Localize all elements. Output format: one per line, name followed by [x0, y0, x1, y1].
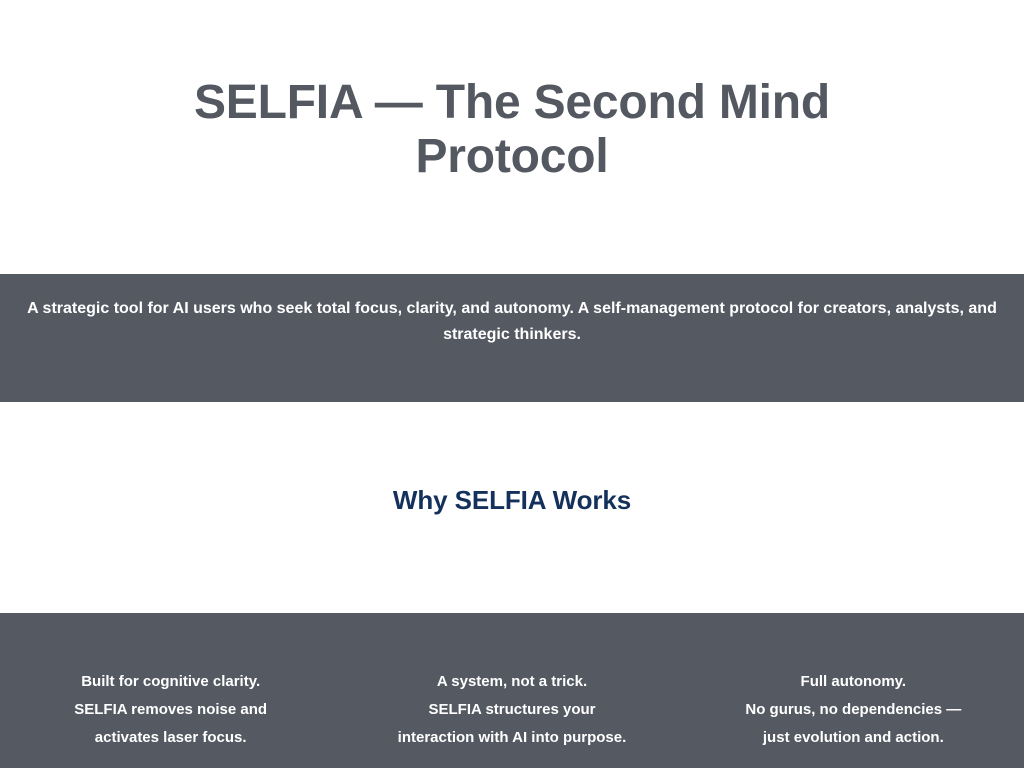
hero-section: SELFIA — The Second Mind Protocol — [0, 0, 1024, 274]
feature-line: just evolution and action. — [691, 724, 1016, 752]
subtitle-text: A strategic tool for AI users who seek t… — [23, 296, 1001, 348]
feature-line: A system, not a trick. — [349, 668, 674, 696]
feature-line: No gurus, no dependencies — — [691, 696, 1016, 724]
landing-page: SELFIA — The Second Mind Protocol A stra… — [0, 0, 1024, 768]
features-band: Built for cognitive clarity. SELFIA remo… — [0, 613, 1024, 768]
feature-line: SELFIA removes noise and — [8, 696, 333, 724]
feature-line: activates laser focus. — [8, 724, 333, 752]
feature-line: Full autonomy. — [691, 668, 1016, 696]
feature-column-clarity: Built for cognitive clarity. SELFIA remo… — [0, 668, 341, 752]
page-title: SELFIA — The Second Mind Protocol — [162, 76, 862, 184]
feature-line: Built for cognitive clarity. — [8, 668, 333, 696]
section-heading-why-selfia-works: Why SELFIA Works — [393, 484, 631, 516]
feature-line: SELFIA structures your — [349, 696, 674, 724]
why-selfia-section: Why SELFIA Works — [0, 402, 1024, 613]
feature-column-autonomy: Full autonomy. No gurus, no dependencies… — [683, 668, 1024, 752]
feature-column-system: A system, not a trick. SELFIA structures… — [341, 668, 682, 752]
subtitle-band: A strategic tool for AI users who seek t… — [0, 274, 1024, 402]
feature-line: interaction with AI into purpose. — [349, 724, 674, 752]
